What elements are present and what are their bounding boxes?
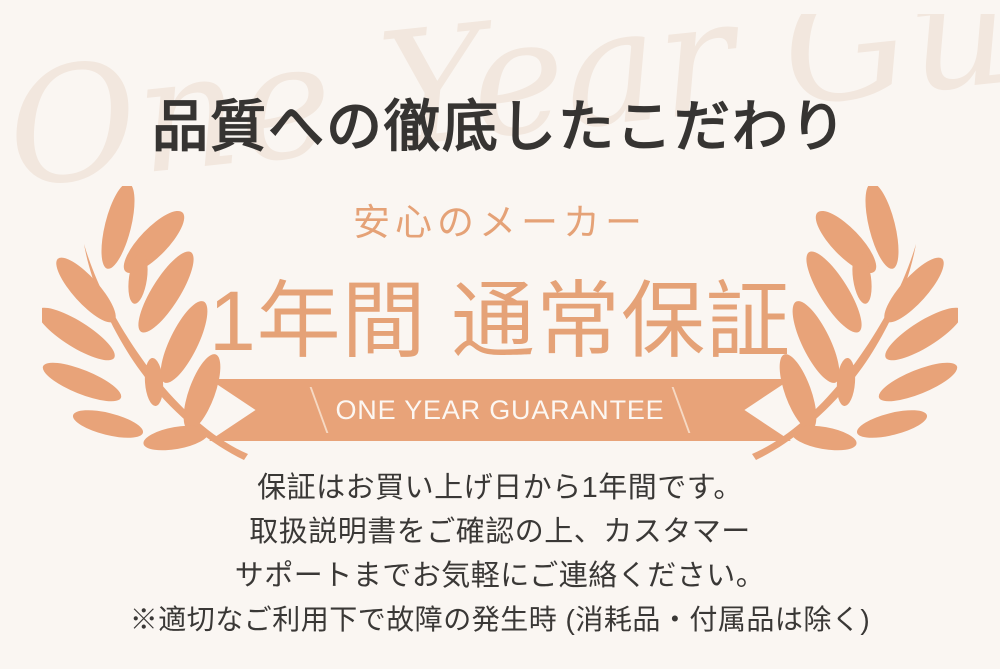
body-line-1: 保証はお買い上げ日から1年間です。 bbox=[0, 466, 1000, 510]
headline-guarantee-period: 1年間 通常保証 bbox=[0, 254, 1000, 375]
page-title: 品質への徹底したこだわり bbox=[0, 82, 1000, 163]
body-line-2: 取扱説明書をご確認の上、カスタマー bbox=[0, 510, 1000, 554]
slash-left-icon bbox=[309, 387, 328, 433]
ribbon-label: ONE YEAR GUARANTEE bbox=[336, 395, 665, 426]
body-line-4-note: ※適切なご利用下で故障の発生時 (消耗品・付属品は除く) bbox=[0, 598, 1000, 642]
body-copy: 保証はお買い上げ日から1年間です。 取扱説明書をご確認の上、カスタマー サポート… bbox=[0, 466, 1000, 642]
ribbon-label-group: ONE YEAR GUARANTEE bbox=[209, 379, 791, 441]
subtitle: 安心のメーカー bbox=[0, 192, 1000, 246]
body-line-3: サポートまでお気軽にご連絡ください。 bbox=[0, 554, 1000, 598]
slash-right-icon bbox=[672, 387, 691, 433]
guarantee-banner: One Year Guarantee 品質への徹底したこだわり 安心のメーカー bbox=[0, 0, 1000, 669]
ribbon-banner: ONE YEAR GUARANTEE bbox=[209, 379, 791, 441]
